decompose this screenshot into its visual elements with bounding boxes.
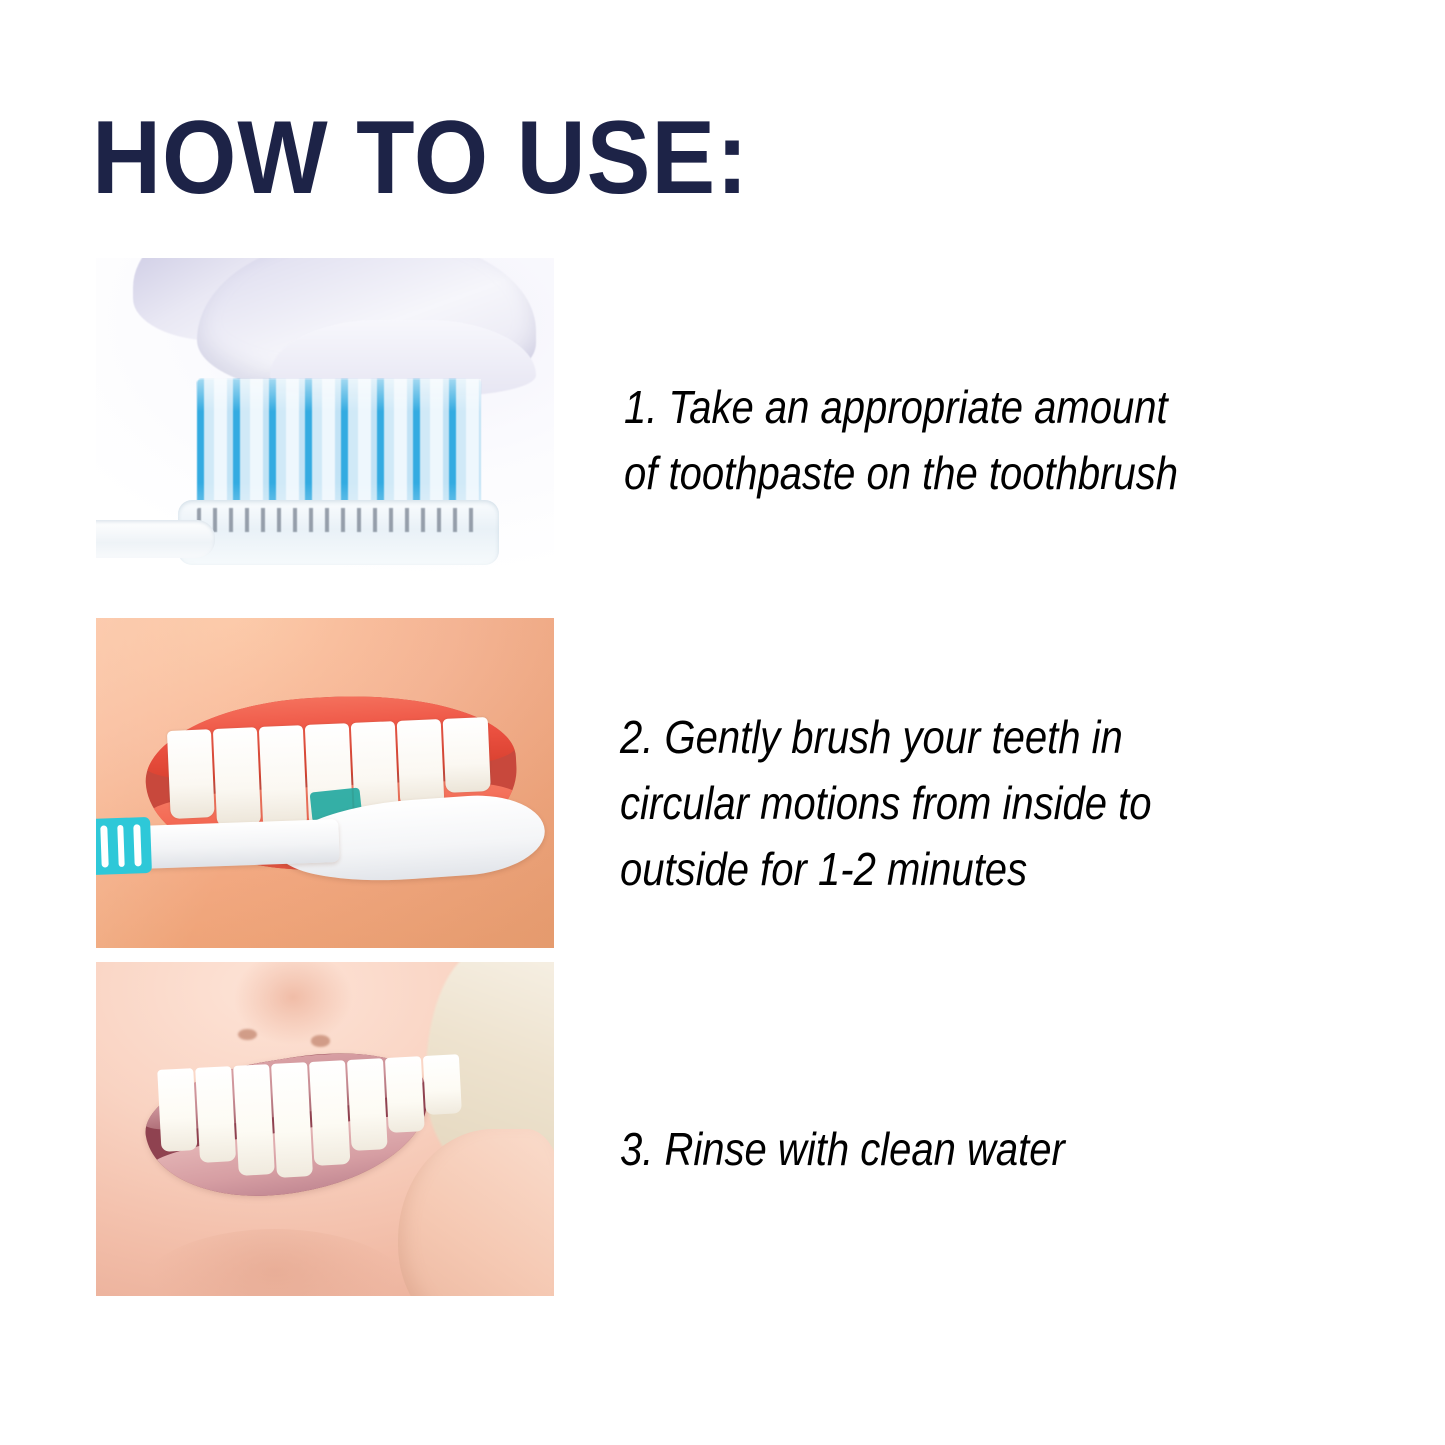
step-1-image: [96, 258, 554, 603]
teeth-row: [157, 1054, 465, 1183]
tooth: [309, 1060, 351, 1166]
step-3-image: [96, 962, 554, 1296]
tooth: [195, 1066, 236, 1163]
grip-band: [117, 824, 125, 867]
toothbrush-grip: [96, 817, 152, 875]
infographic-page: HOW TO USE:: [0, 0, 1445, 1445]
tooth: [347, 1058, 388, 1151]
brush-handle: [96, 520, 215, 558]
tooth: [271, 1062, 313, 1177]
step-2-text: 2. Gently brush your teeth in circular m…: [620, 704, 1152, 902]
toothbrush-toothpaste-illustration: [96, 258, 554, 603]
nostril-right: [311, 1035, 330, 1046]
tooth: [423, 1054, 463, 1115]
tooth: [233, 1064, 275, 1176]
tooth: [259, 725, 307, 829]
tooth: [443, 717, 490, 792]
tooth: [397, 719, 445, 807]
step-1-text: 1. Take an appropriate amount of toothpa…: [624, 374, 1178, 506]
smiling-woman-illustration: [96, 962, 554, 1296]
tooth: [167, 729, 215, 819]
grip-band: [134, 824, 142, 867]
tooth: [213, 727, 261, 827]
step-2-image: [96, 618, 554, 948]
bristle-sockets: [197, 508, 481, 532]
step-3-text: 3. Rinse with clean water: [620, 1116, 1065, 1182]
tooth: [157, 1068, 198, 1152]
tooth: [385, 1056, 425, 1133]
page-title: HOW TO USE:: [92, 106, 749, 210]
brushing-teeth-illustration: [96, 618, 554, 948]
grip-band: [100, 825, 108, 868]
